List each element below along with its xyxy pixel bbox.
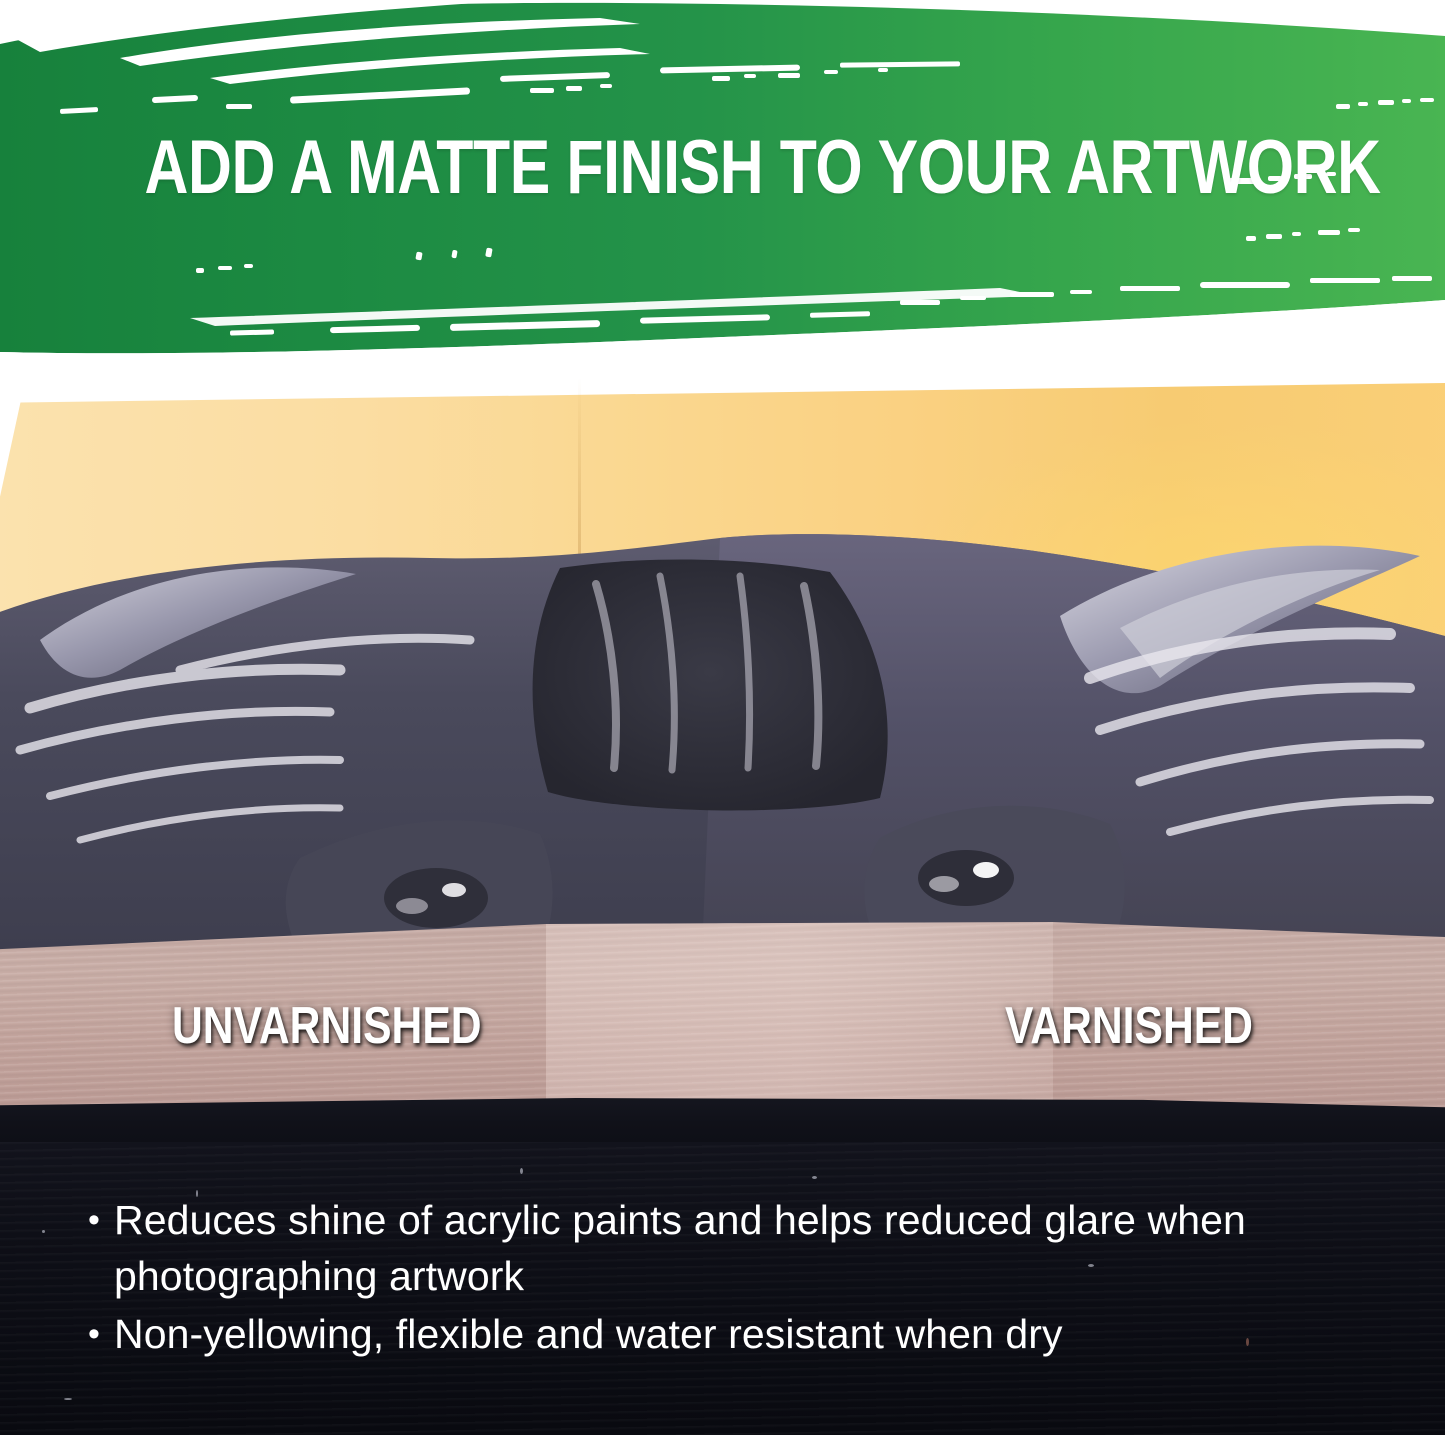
- texture-speck: [520, 1168, 523, 1174]
- label-varnished: VARNISHED: [1005, 996, 1253, 1056]
- wood-panel-light-patch: [546, 918, 1053, 1118]
- texture-speck: [812, 1176, 817, 1179]
- texture-speck: [64, 1398, 72, 1400]
- header-banner: ADD A MATTE FINISH TO YOUR ARTWORK: [0, 0, 1445, 380]
- label-unvarnished: UNVARNISHED: [172, 996, 482, 1056]
- features-panel: Reduces shine of acrylic paints and help…: [0, 1142, 1445, 1435]
- product-feature-card: ADD A MATTE FINISH TO YOUR ARTWORK: [0, 0, 1445, 1435]
- page-title: ADD A MATTE FINISH TO YOUR ARTWORK: [145, 126, 1301, 210]
- list-item: Reduces shine of acrylic paints and help…: [88, 1192, 1388, 1304]
- list-item: Non-yellowing, flexible and water resist…: [88, 1306, 1388, 1362]
- texture-speck: [42, 1230, 45, 1233]
- feature-bullet-list: Reduces shine of acrylic paints and help…: [88, 1192, 1388, 1364]
